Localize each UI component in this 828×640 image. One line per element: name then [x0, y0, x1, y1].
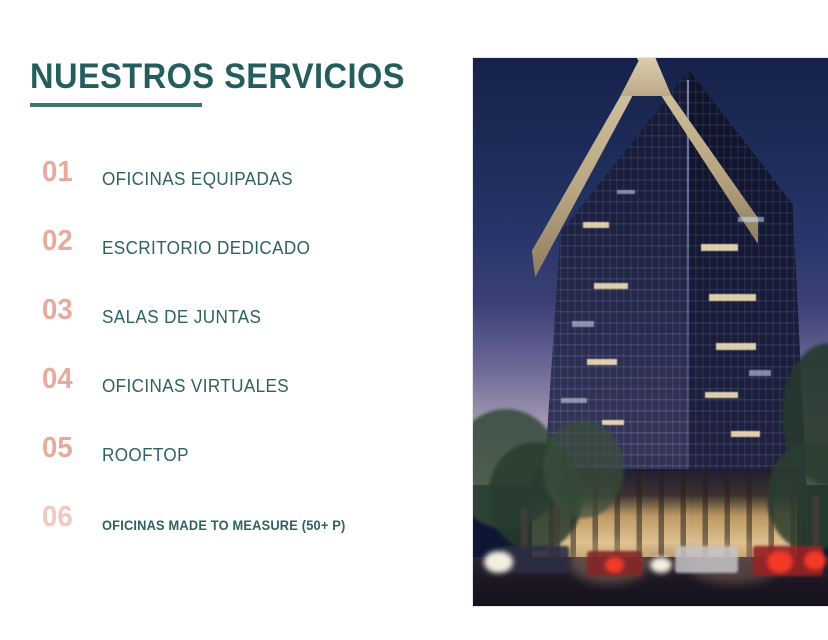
lit-window [709, 294, 757, 302]
car [675, 546, 738, 573]
service-label: OFICINAS VIRTUALES [102, 376, 289, 397]
service-number: 05 [42, 432, 73, 465]
list-item[interactable]: 06 OFICINAS MADE TO MEASURE (50+ P) [0, 493, 460, 562]
services-list: 01 OFICINAS EQUIPADAS 02 ESCRITORIO DEDI… [0, 148, 460, 562]
car-headlight [650, 557, 672, 573]
building-photo-content [473, 58, 828, 606]
building-photo [473, 58, 828, 606]
service-number: 04 [42, 363, 73, 396]
lit-window [583, 222, 609, 228]
lit-window [716, 343, 756, 350]
list-item[interactable]: 01 OFICINAS EQUIPADAS [0, 148, 460, 217]
lit-window [594, 283, 627, 290]
lit-window [705, 392, 738, 398]
lit-window [731, 431, 760, 437]
lit-window [617, 190, 635, 195]
service-number: 02 [42, 225, 73, 258]
lit-window [701, 244, 738, 251]
service-label: ROOFTOP [102, 445, 189, 466]
lit-window [602, 420, 624, 425]
list-item[interactable]: 04 OFICINAS VIRTUALES [0, 355, 460, 424]
service-label: ESCRITORIO DEDICADO [102, 238, 310, 259]
service-label: OFICINAS MADE TO MEASURE (50+ P) [102, 518, 345, 533]
list-item[interactable]: 05 ROOFTOP [0, 424, 460, 493]
service-number: 03 [42, 294, 73, 327]
car-taillight [605, 557, 623, 573]
lit-window [587, 359, 616, 365]
title-underline-rule [30, 103, 202, 107]
lit-window [572, 321, 594, 326]
slide-canvas: NUESTROS SERVICIOS 01 OFICINAS EQUIPADAS… [0, 0, 828, 640]
service-label: OFICINAS EQUIPADAS [102, 169, 293, 190]
service-label: SALAS DE JUNTAS [102, 307, 261, 328]
lit-window [738, 217, 764, 222]
list-item[interactable]: 02 ESCRITORIO DEDICADO [0, 217, 460, 286]
page-title: NUESTROS SERVICIOS [30, 59, 405, 94]
stone-crown-apex [620, 58, 672, 96]
lit-window [749, 370, 771, 375]
services-panel: NUESTROS SERVICIOS 01 OFICINAS EQUIPADAS… [0, 0, 460, 640]
lit-window [561, 398, 587, 403]
title-block: NUESTROS SERVICIOS [30, 59, 433, 107]
list-item[interactable]: 03 SALAS DE JUNTAS [0, 286, 460, 355]
street-tree [543, 420, 624, 519]
service-number: 06 [42, 501, 73, 534]
service-number: 01 [42, 156, 73, 189]
